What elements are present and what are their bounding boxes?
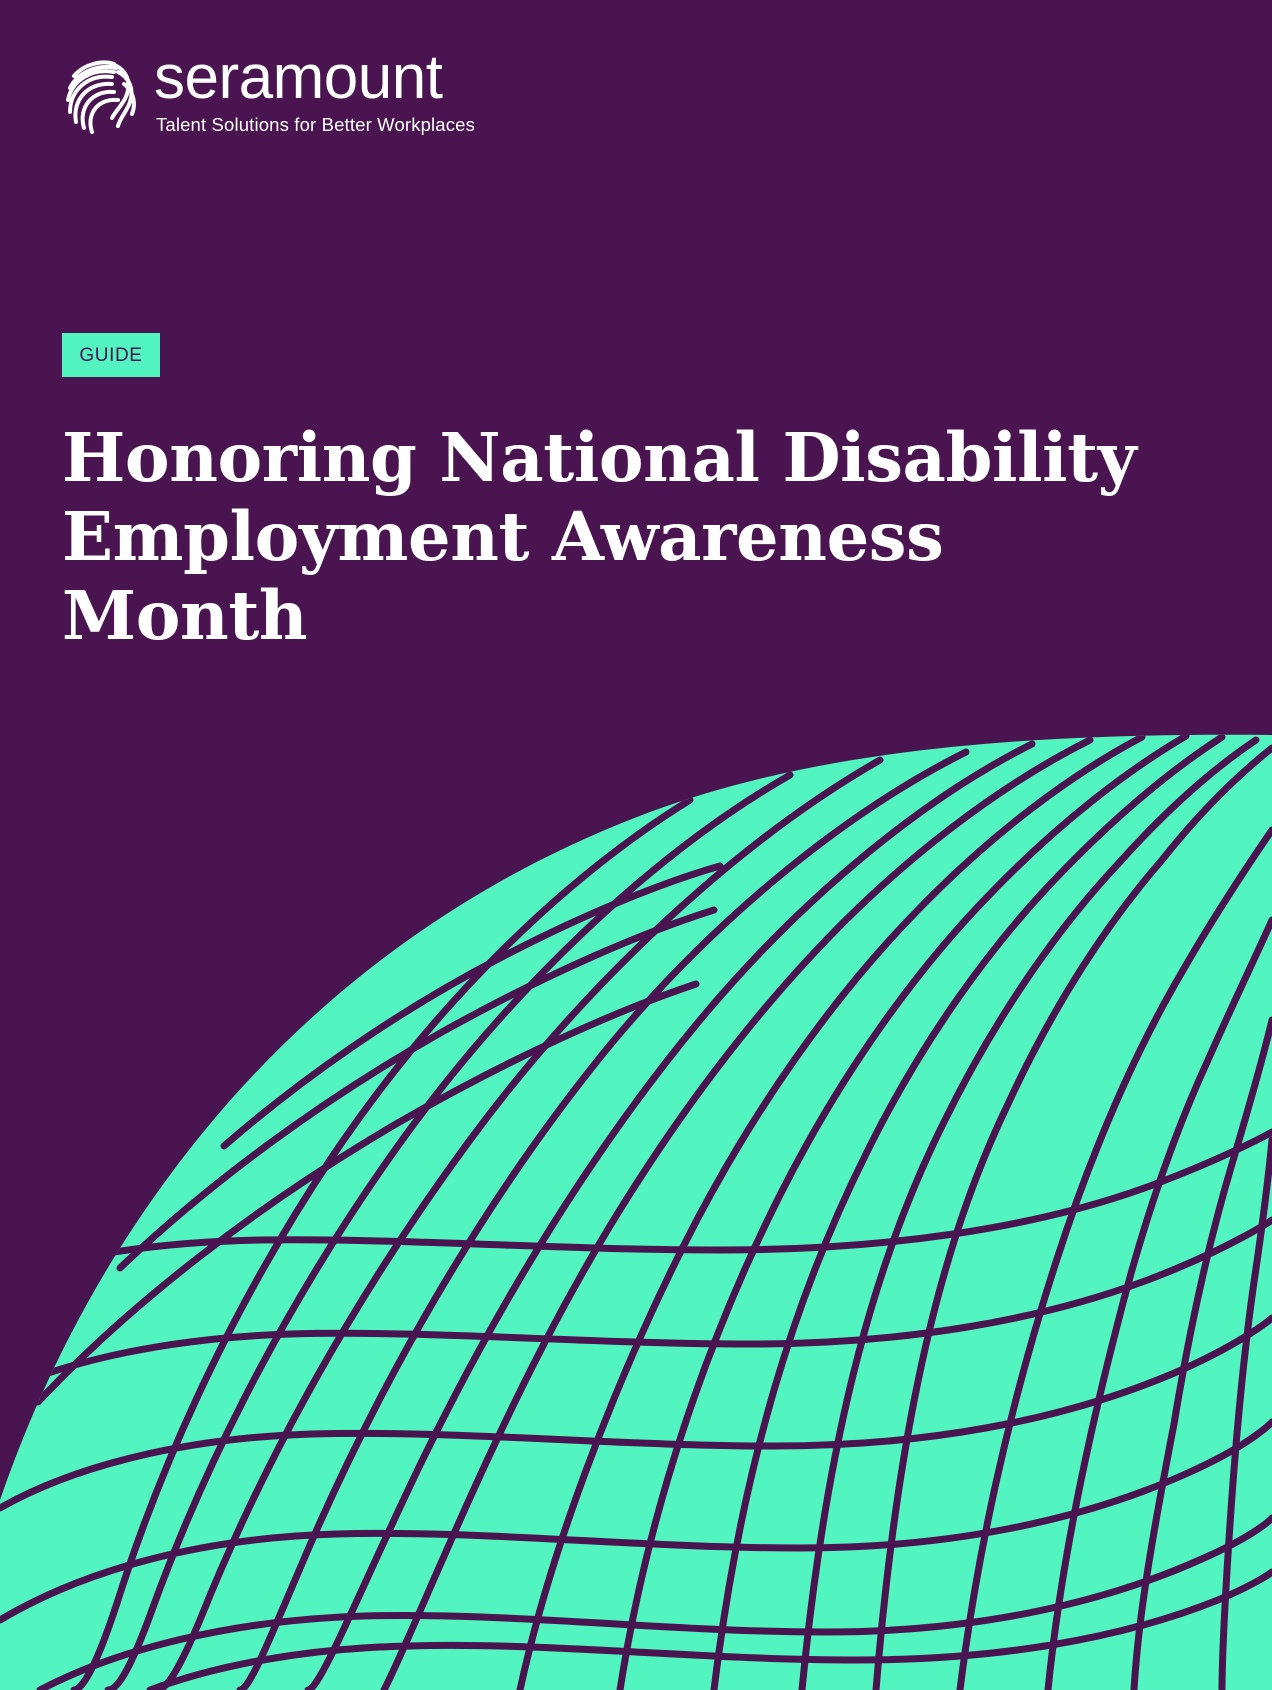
seramount-wave-mark-icon xyxy=(62,54,140,136)
svg-text:seramount: seramount xyxy=(154,43,443,112)
wave-green-fill xyxy=(0,700,1272,1690)
page-title-line-2: Employment Awareness xyxy=(62,497,1022,576)
guide-cover-page: seramount Talent Solutions for Better Wo… xyxy=(0,0,1272,1690)
page-title-line-1: Honoring National Disability xyxy=(62,418,1022,497)
page-title-line-3: Month xyxy=(62,576,1022,655)
brand-tagline: Talent Solutions for Better Workplaces xyxy=(156,114,475,136)
page-title: Honoring National Disability Employment … xyxy=(62,418,1022,655)
guide-badge-label: GUIDE xyxy=(79,346,142,365)
guide-badge: GUIDE xyxy=(62,333,160,377)
seramount-wordmark: seramount xyxy=(154,42,499,120)
seramount-logo: seramount Talent Solutions for Better Wo… xyxy=(62,48,502,140)
wave-stripe-group xyxy=(0,736,1272,1690)
concentric-wave-stripes-artwork xyxy=(0,0,1272,1690)
